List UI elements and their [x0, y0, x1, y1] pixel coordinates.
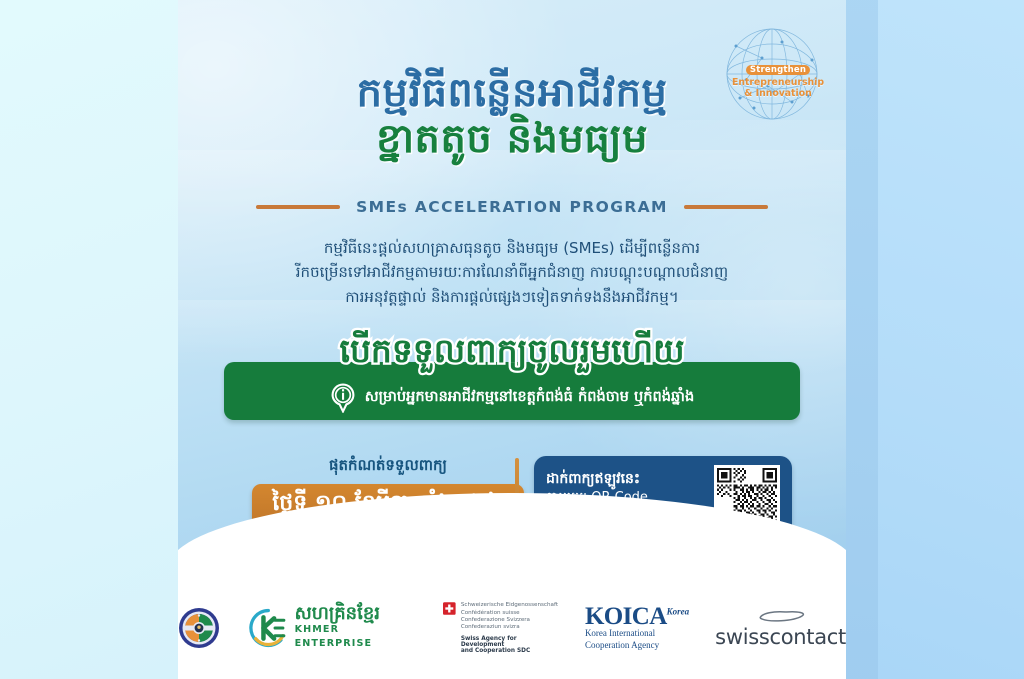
cta-banner: បើកទទួលពាក្យចូលរួមហើយ សម្រាប់អ្នកមានអាជី…: [224, 362, 800, 420]
cta-headline: បើកទទួលពាក្យចូលរួមហើយ: [224, 334, 800, 367]
logo-koica: KOICAKorea Korea International Cooperati…: [585, 605, 689, 651]
logo-khmer-enterprise: សហគ្រិនខ្មែរ KHMER ENTERPRISE: [246, 605, 417, 652]
qr-line-1: ដាក់ពាក្យឥឡូវនេះ: [546, 470, 702, 490]
sdc-line: Schweizerische Eidgenossenschaft: [461, 602, 559, 609]
khmer-enterprise-kh: សហគ្រិនខ្មែរ: [295, 605, 418, 623]
ministry-seal-icon: [178, 607, 220, 649]
sdc-agency-lines: Swiss Agency for Development and Coopera…: [461, 636, 559, 654]
cta-subline-row: សម្រាប់អ្នកមានអាជីវកម្មនៅខេត្តកំពង់ធំ កំ…: [224, 383, 800, 413]
logo-swiss-sdc: Schweizerische Eidgenossenschaft Confédé…: [443, 602, 559, 653]
poster-canvas: Strengthen Entrepreneurship & Innovation…: [0, 0, 1024, 679]
page-title: កម្មវិធីពន្លើនអាជីវកម្ម ខ្នាតតូច និងមធ្យ…: [178, 72, 846, 161]
cta-subline: សម្រាប់អ្នកមានអាជីវកម្មនៅខេត្តកំពង់ធំ កំ…: [365, 388, 694, 409]
koica-subline-1: Korea International: [585, 628, 689, 639]
khmer-enterprise-mark-icon: [246, 606, 291, 650]
swisscontact-swoosh-icon: [754, 609, 808, 623]
partner-logos: សហគ្រិនខ្មែរ KHMER ENTERPRISE Schweizeri…: [178, 599, 846, 657]
sdc-agency-line: Swiss Agency for Development: [461, 636, 559, 648]
sdc-text-group: Schweizerische Eidgenossenschaft Confédé…: [461, 602, 559, 653]
sdc-line: Confédération suisse: [461, 610, 559, 617]
sdc-language-lines: Schweizerische Eidgenossenschaft Confédé…: [461, 602, 559, 631]
title-line-1: កម្មវិធីពន្លើនអាជីវកម្ម: [178, 72, 846, 114]
background-left-panel: [0, 0, 190, 679]
sdc-line: Confederazione Svizzera: [461, 617, 559, 624]
deadline-label: ផុតកំណត់ទទួលពាក្យ: [238, 456, 538, 478]
divider-rule-left: [256, 205, 340, 209]
description-line: ការអនុវត្តផ្ទាល់ និងការផ្តល់ផ្សេងៗទៀតទាក…: [236, 285, 788, 309]
title-line-2: ខ្នាតតូច និងមធ្យម: [178, 118, 846, 160]
koica-word-text: KOICA: [585, 603, 667, 630]
logo-ministry-seal: [178, 607, 220, 649]
divider-rule-right: [684, 205, 768, 209]
khmer-enterprise-en: KHMER ENTERPRISE: [295, 623, 418, 652]
poster-body: Strengthen Entrepreneurship & Innovation…: [178, 0, 846, 679]
subtitle-row: SMEs ACCELERATION PROGRAM: [178, 198, 846, 216]
description-paragraph: កម្មវិធីនេះផ្តល់សហគ្រាសធុនតូច និងមធ្យម (…: [236, 236, 788, 309]
swisscontact-group: swisscontact: [715, 608, 846, 648]
koica-subline-2: Cooperation Agency: [585, 640, 689, 651]
khmer-enterprise-text: សហគ្រិនខ្មែរ KHMER ENTERPRISE: [295, 605, 418, 652]
logo-swisscontact: swisscontact: [715, 608, 846, 648]
info-pin-icon: [330, 383, 356, 413]
koica-superscript: Korea: [667, 607, 690, 617]
swiss-cross-icon: [443, 602, 456, 615]
description-line: កម្មវិធីនេះផ្តល់សហគ្រាសធុនតូច និងមធ្យម (…: [236, 236, 788, 260]
description-line: រីកចម្រើនទៅអាជីវកម្មតាមរយៈការណែនាំពីអ្នក…: [236, 260, 788, 284]
sdc-line: Confederaziun svizra: [461, 624, 559, 631]
koica-text-group: KOICAKorea Korea International Cooperati…: [585, 605, 689, 651]
swisscontact-wordmark: swisscontact: [715, 627, 846, 648]
sdc-agency-line: and Cooperation SDC: [461, 648, 559, 654]
koica-wordmark: KOICAKorea: [585, 605, 689, 628]
subtitle-text: SMEs ACCELERATION PROGRAM: [356, 198, 668, 216]
